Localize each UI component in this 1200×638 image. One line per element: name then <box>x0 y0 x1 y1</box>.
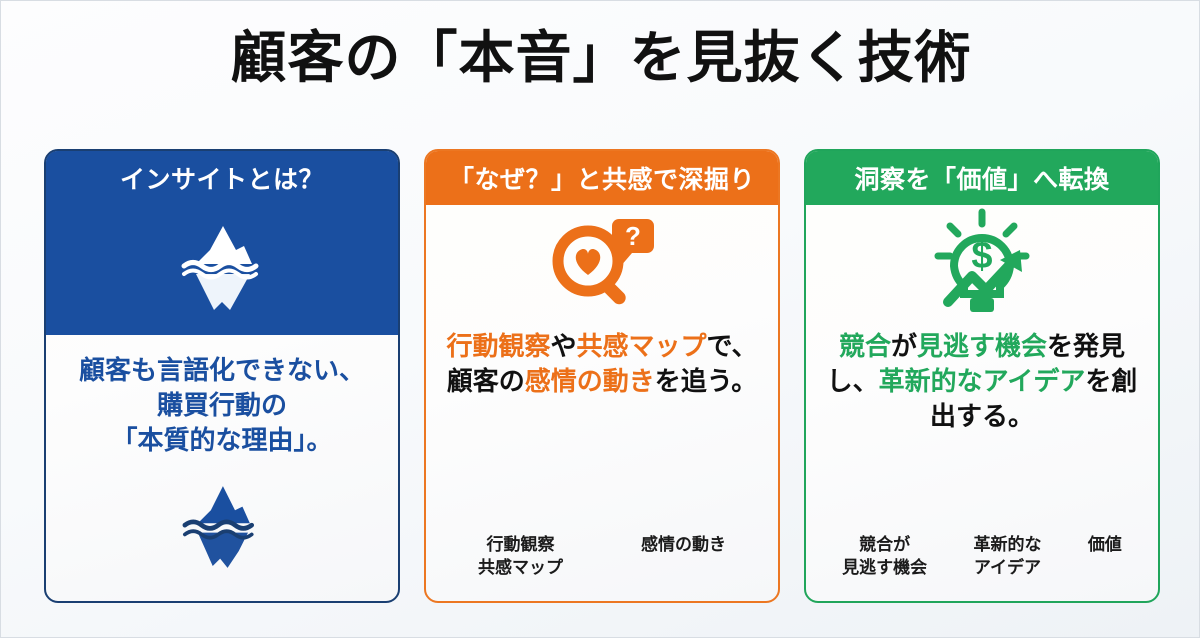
card-insight-header-block: インサイトとは？ <box>46 151 398 335</box>
card-insight-header: インサイトとは？ <box>46 151 398 205</box>
magnifier-heart-question-icon: ? <box>540 209 664 320</box>
iceberg-icon-blue <box>170 478 274 581</box>
card-value-body-seg-7: デア <box>1033 366 1085 396</box>
footer-label: 競合が 見逃す機会 <box>842 534 927 579</box>
card-value-body-seg-2: が <box>891 331 917 361</box>
card-value-body-seg-1: 競合 <box>839 331 891 361</box>
card-empathy-header: 「なぜ？」と共感で深掘り <box>426 151 778 205</box>
card-empathy-body-seg-6: を追う。 <box>655 366 757 396</box>
card-empathy-body-seg-2: や <box>551 331 577 361</box>
card-value[interactable]: 洞察を「価値」へ転換 $ <box>804 149 1160 603</box>
card-value-body-seg-6: 革新的なアイ <box>879 366 1034 396</box>
card-value-header: 洞察を「価値」へ転換 <box>806 151 1158 205</box>
footer-label: 価値 <box>1088 534 1122 556</box>
card-empathy-body-seg-5: 感情の動き <box>525 366 655 396</box>
card-insight-body-line-2: 購買行動の <box>60 388 384 423</box>
footer-label: 感情の動き <box>641 534 726 556</box>
footer-label: 行動観察 共感マップ <box>478 534 563 579</box>
card-insight-body: 顧客も言語化できない、 購買行動の 「本質的な理由」。 <box>46 335 398 457</box>
card-empathy[interactable]: 「なぜ？」と共感で深掘り ? 行動観察や共感マップで、顧客の感情の動きを追う。 <box>424 149 780 603</box>
footer-label: 革新的な アイデア <box>973 534 1041 579</box>
card-value-footer-labels: 競合が 見逃す機会 革新的な アイデア 価値 <box>806 534 1158 601</box>
card-insight-body-line-3: 「本質的な理由」。 <box>60 423 384 458</box>
card-insight-bottom-icon-area <box>46 457 398 601</box>
card-empathy-body: 行動観察や共感マップで、顧客の感情の動きを追う。 <box>426 323 778 399</box>
card-empathy-footer-labels: 行動観察 共感マップ 感情の動き <box>426 534 778 601</box>
card-insight-body-line-1: 顧客も言語化できない、 <box>60 353 384 388</box>
card-empathy-body-seg-1: 行動観察 <box>446 331 550 361</box>
slide-canvas: 顧客の「本音」を見抜く技術 インサイトとは？ <box>0 0 1200 638</box>
card-empathy-body-seg-3: 共感マップ <box>577 331 707 361</box>
card-insight-header-icon-area <box>46 205 398 335</box>
lightbulb-dollar-growth-icon: $ <box>924 208 1040 321</box>
card-empathy-icon-area: ? <box>426 205 778 323</box>
iceberg-icon-white <box>166 216 278 325</box>
svg-text:$: $ <box>971 235 992 277</box>
card-value-body-seg-3: 見逃す機会 <box>917 331 1047 361</box>
svg-text:?: ? <box>625 221 641 251</box>
card-value-body: 競合が見逃す機会を発見し、革新的なアイデアを創出する。 <box>806 323 1158 433</box>
card-value-icon-area: $ <box>806 205 1158 323</box>
page-title: 顧客の「本音」を見抜く技術 <box>1 27 1200 89</box>
card-value-body-seg-4: を <box>1047 331 1073 361</box>
card-row: インサイトとは？ 顧客も言語化できない、 購買行動の 「本質的な理由」。 <box>44 149 1160 603</box>
card-insight[interactable]: インサイトとは？ 顧客も言語化できない、 購買行動の 「本質的な理由」。 <box>44 149 400 603</box>
